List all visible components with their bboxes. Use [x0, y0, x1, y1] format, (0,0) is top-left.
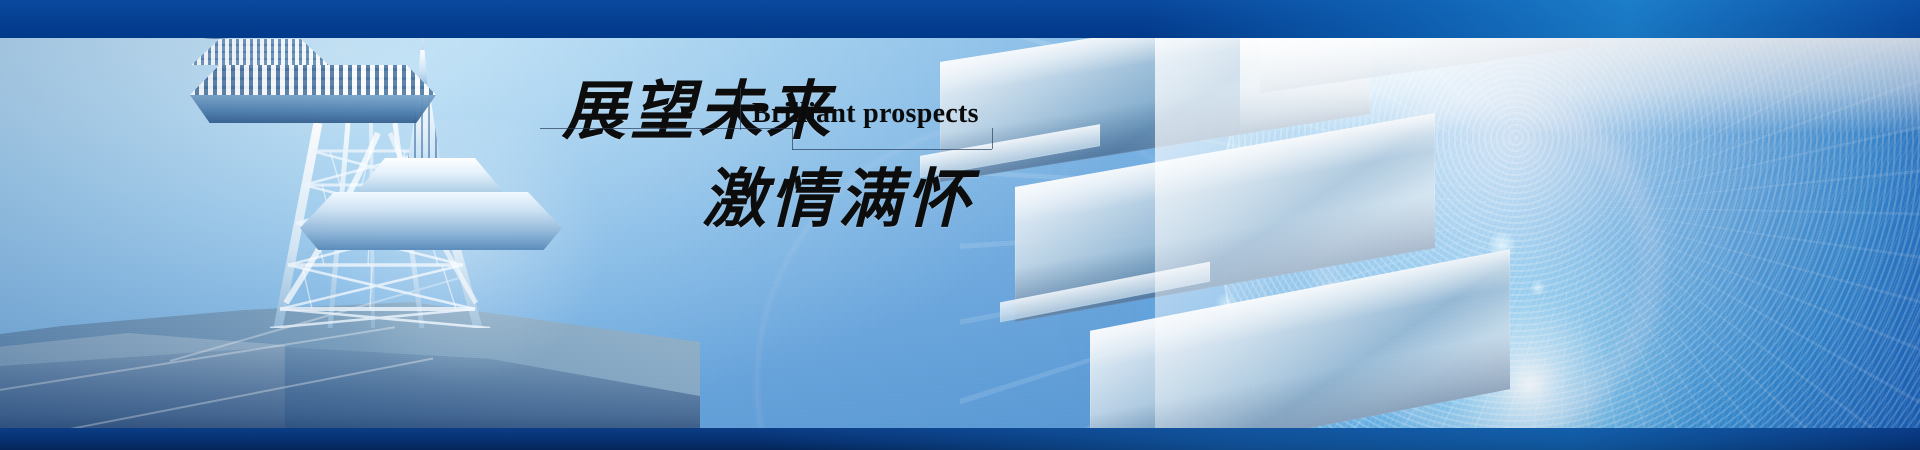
headline-rule-step-right: [992, 128, 993, 149]
tower-deck-underside: [190, 95, 436, 123]
promo-banner: 展望未来 Brilliant prospects 激情满怀: [0, 0, 1920, 450]
translucent-overlay-top: [1240, 38, 1920, 134]
headline-rule-step: [792, 128, 793, 150]
bottom-accent-bar: [0, 428, 1920, 450]
headline-block: 展望未来 Brilliant prospects 激情满怀: [540, 52, 1010, 222]
tower-upper-deck-windows: [190, 39, 330, 65]
top-bar-sheen: [1150, 0, 1920, 38]
top-accent-bar: [0, 0, 1920, 38]
headline-rule-left: [540, 128, 792, 129]
tower-main-deck-windows: [190, 65, 436, 95]
headline-english: Brilliant prospects: [752, 98, 979, 130]
headline-divider-vertical: [740, 88, 741, 130]
bottom-bar-sheen: [760, 428, 1920, 450]
tower-main-deck: [300, 192, 562, 250]
headline-chinese-line-2: 激情满怀: [702, 148, 974, 240]
